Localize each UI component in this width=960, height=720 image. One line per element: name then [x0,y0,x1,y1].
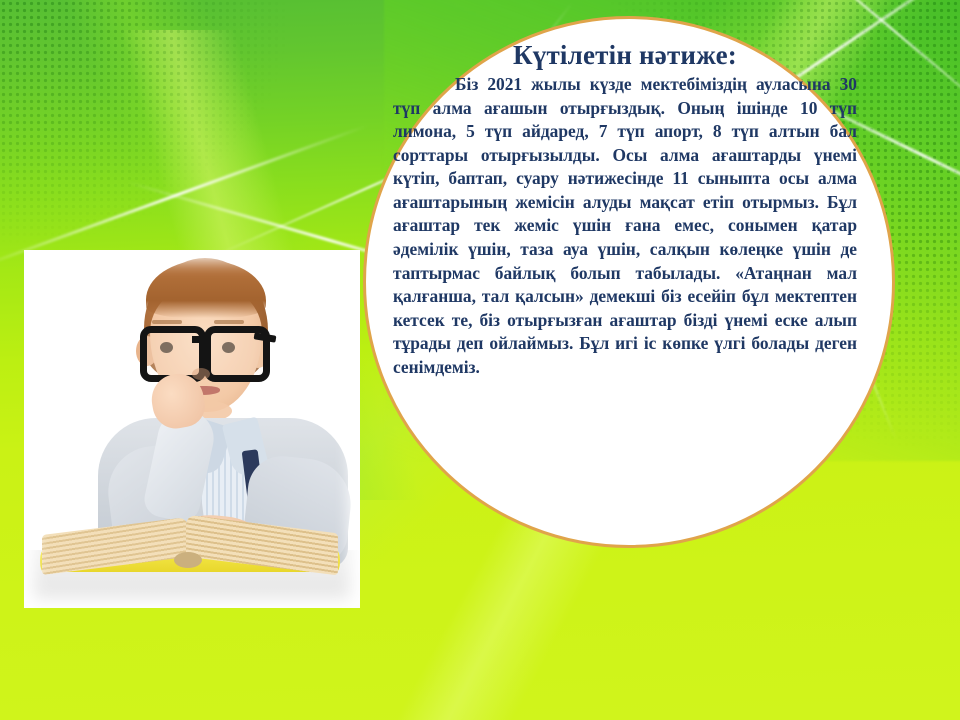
presentation-slide: Күтілетін нәтиже: Біз 2021 жылы күзде ме… [0,0,960,720]
photo-nose [192,368,210,380]
circle-text-container: Күтілетін нәтиже: Біз 2021 жылы күзде ме… [393,40,857,500]
photo-fringe [146,260,266,318]
slide-body-text: Біз 2021 жылы күзде мектебіміздің ауласы… [393,73,857,380]
photo-boy-reading [24,250,360,608]
photo-glasses-bridge [192,336,206,343]
photo-eyebrow-left [152,320,182,324]
slide-title: Күтілетін нәтиже: [393,40,857,71]
photo-book-spine [174,552,202,568]
photo-eyebrow-right [214,320,244,324]
